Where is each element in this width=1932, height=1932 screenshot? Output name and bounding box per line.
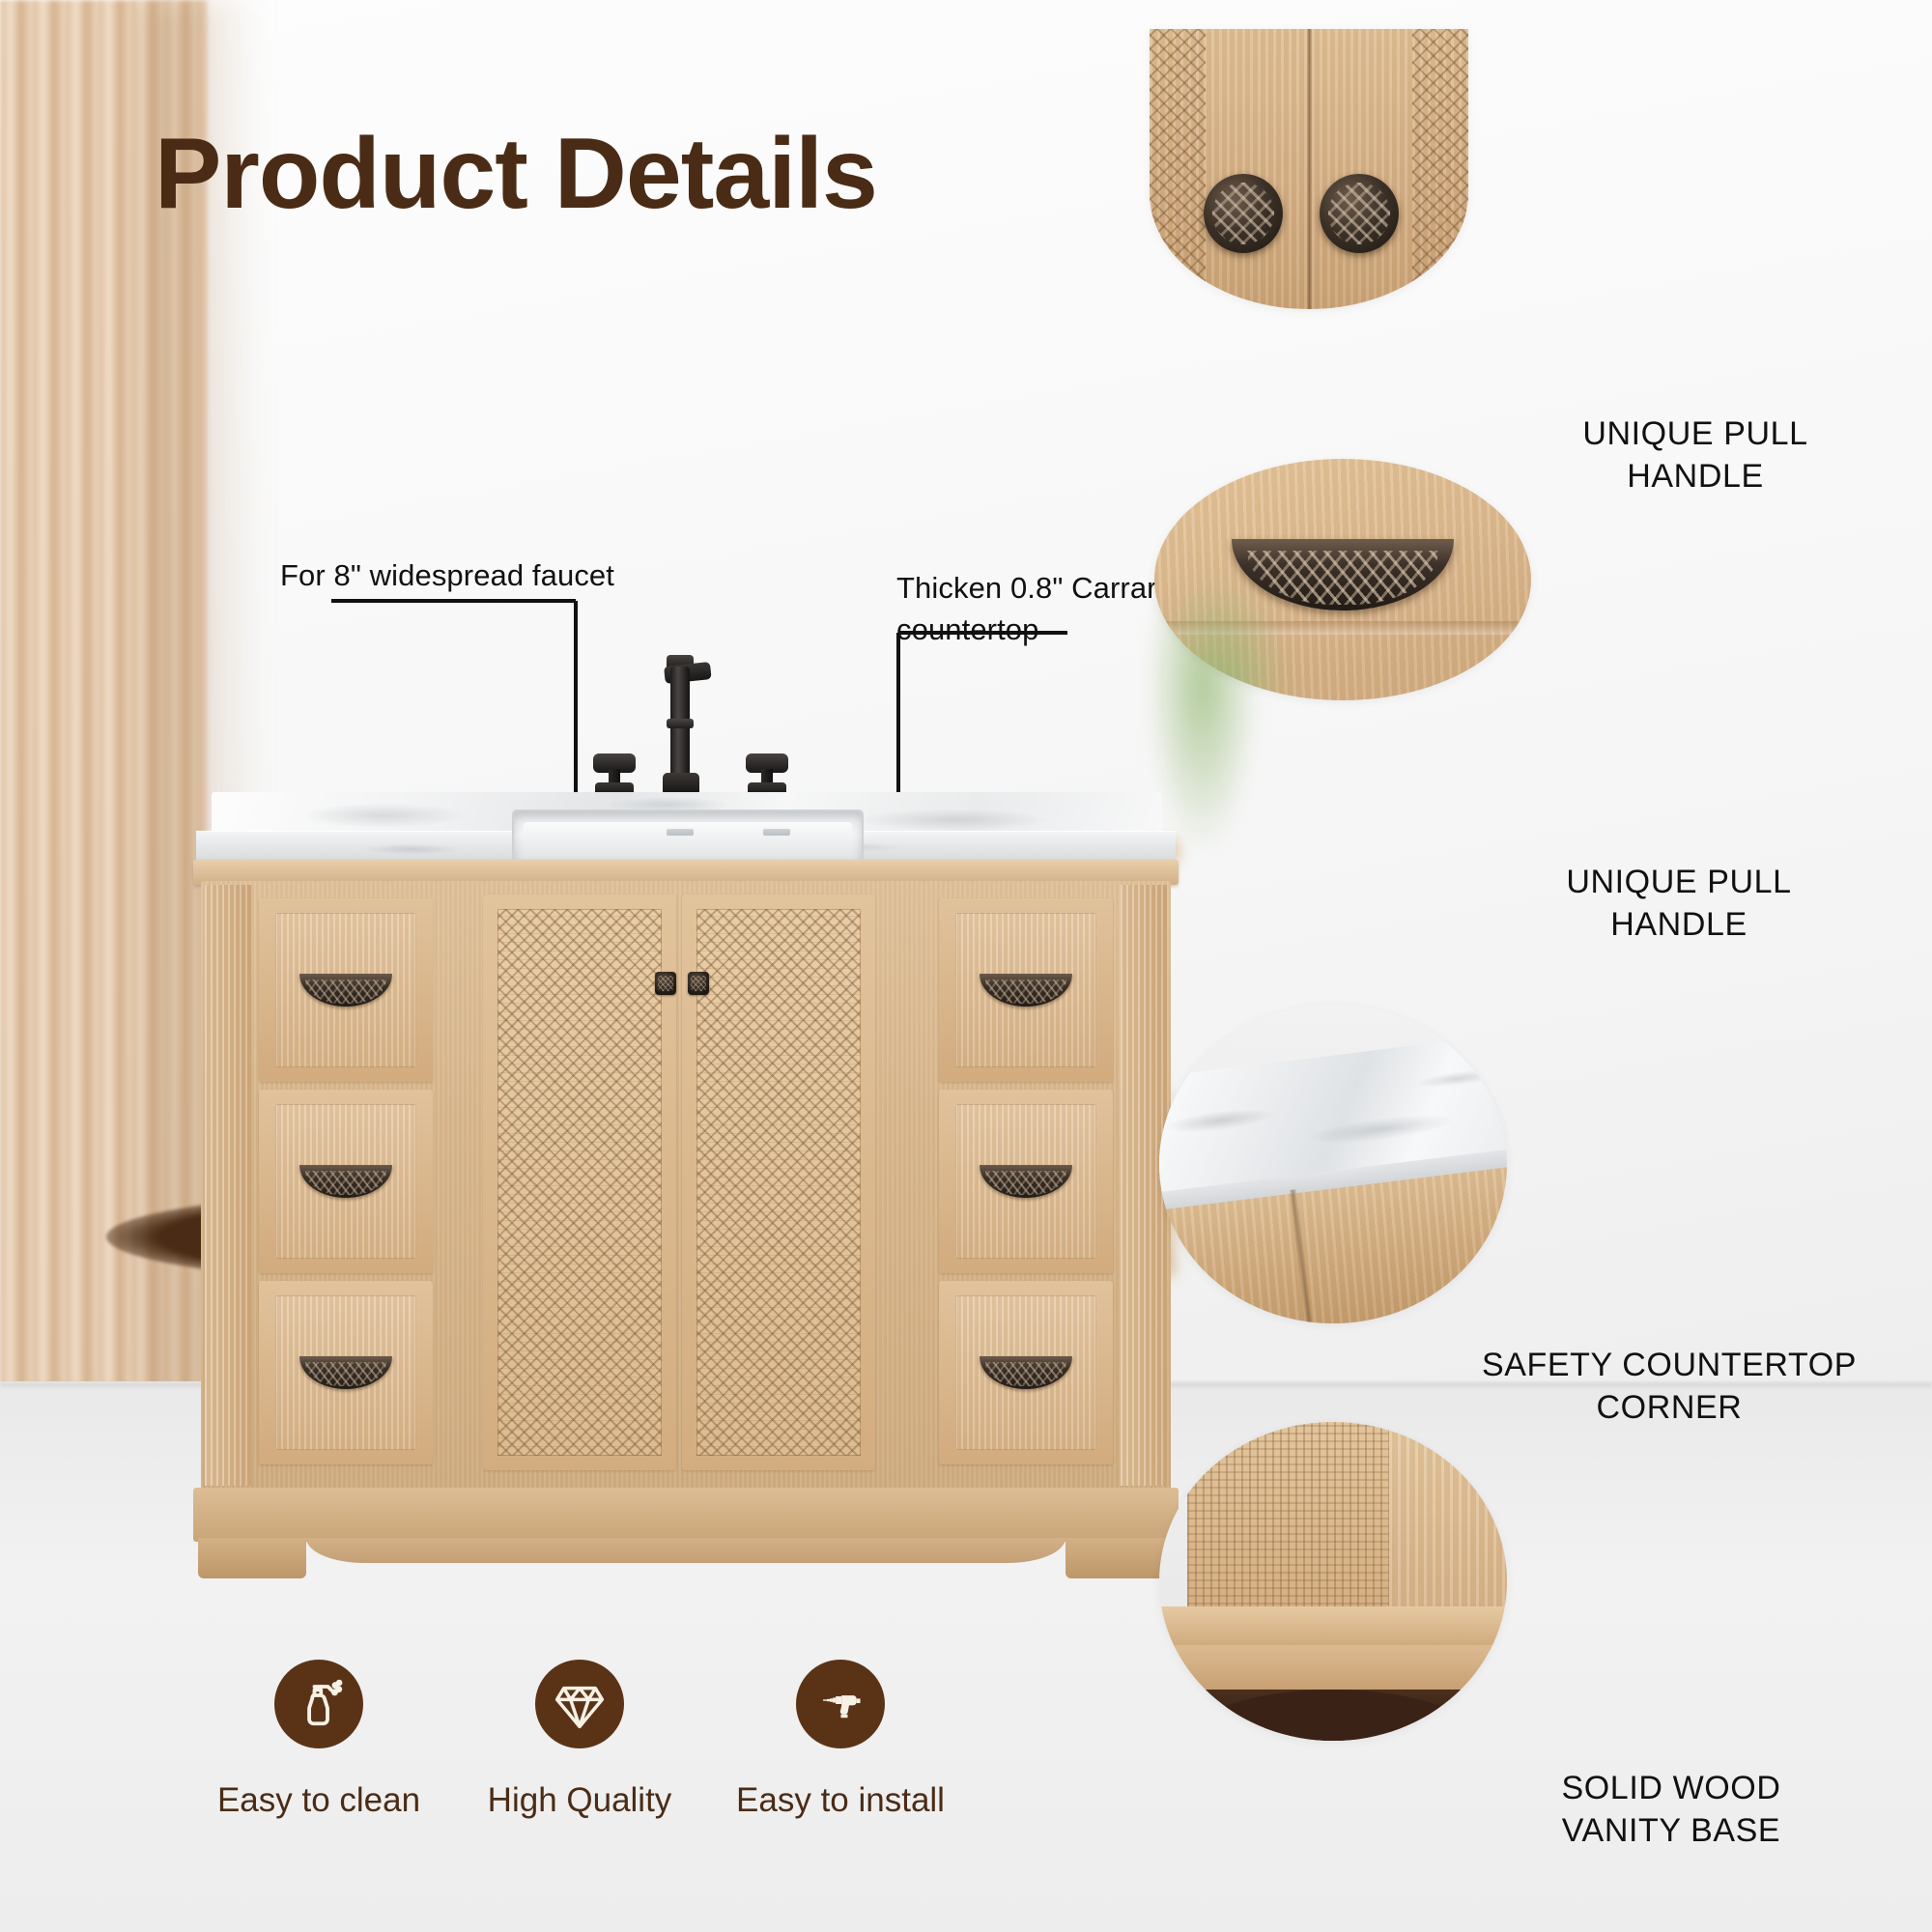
spray-bottle-icon: [274, 1660, 363, 1748]
detail-label-pull-handle-cup: UNIQUE PULL HANDLE: [1428, 862, 1930, 946]
callout-faucet-label: For 8" widespread faucet: [280, 555, 724, 597]
feature-badges: Easy to clean High Quality: [208, 1660, 952, 1901]
drawer-left-top[interactable]: [259, 898, 433, 1082]
drawer-right-middle[interactable]: [939, 1090, 1113, 1273]
detail-image-pull-handle-cup: [1154, 459, 1531, 700]
feature-label: Easy to clean: [217, 1781, 420, 1820]
faucet-handle-left: [593, 753, 636, 773]
sink-overflow: [667, 829, 694, 836]
cup-pull-handle[interactable]: [299, 1165, 392, 1198]
faucet-base: [663, 773, 699, 794]
infographic-canvas: Product Details For 8" widespread faucet…: [0, 0, 1932, 1932]
faucet-ring: [667, 719, 694, 728]
sink-drain: [763, 829, 790, 836]
feature-easy-to-install: Easy to install: [729, 1660, 952, 1901]
undermount-sink: [512, 810, 864, 864]
page-title: Product Details: [155, 124, 877, 224]
cabinet-knob-right: [1320, 174, 1399, 253]
detail-label-countertop-corner: SAFETY COUNTERTOP CORNER: [1418, 1345, 1920, 1429]
cabinet-feet: [198, 1538, 1174, 1588]
feature-high-quality: High Quality: [469, 1660, 691, 1901]
cup-pull-handle[interactable]: [980, 1165, 1072, 1198]
drawer-left-middle[interactable]: [259, 1090, 433, 1273]
drawer-right-top[interactable]: [939, 898, 1113, 1082]
cup-pull-handle[interactable]: [299, 974, 392, 1007]
cup-pull-handle[interactable]: [980, 974, 1072, 1007]
cabinet-knob-left: [1204, 174, 1283, 253]
cane-door-right[interactable]: [682, 895, 875, 1470]
cabinet-stile-left: [205, 885, 251, 1486]
drawer-left-bottom[interactable]: [259, 1281, 433, 1464]
cane-door-left[interactable]: [483, 895, 676, 1470]
feature-label: High Quality: [488, 1781, 672, 1820]
door-knob-left[interactable]: [655, 972, 676, 995]
detail-image-countertop-corner: [1159, 1005, 1507, 1323]
cabinet-base-molding: [193, 1488, 1179, 1542]
cup-pull-handle[interactable]: [980, 1356, 1072, 1389]
cup-pull-closeup: [1232, 539, 1454, 611]
detail-label-vanity-base: SOLID WOOD VANITY BASE: [1420, 1768, 1922, 1852]
detail-image-vanity-base: [1159, 1422, 1507, 1741]
feature-easy-to-clean: Easy to clean: [208, 1660, 430, 1901]
detail-image-pull-handle-knob: [1150, 29, 1468, 309]
door-knob-right[interactable]: [688, 972, 709, 995]
feature-label: Easy to install: [736, 1781, 945, 1820]
cup-pull-handle[interactable]: [299, 1356, 392, 1389]
diamond-icon: [535, 1660, 624, 1748]
faucet-handle-right: [746, 753, 788, 773]
drill-icon: [796, 1660, 885, 1748]
drawer-right-bottom[interactable]: [939, 1281, 1113, 1464]
